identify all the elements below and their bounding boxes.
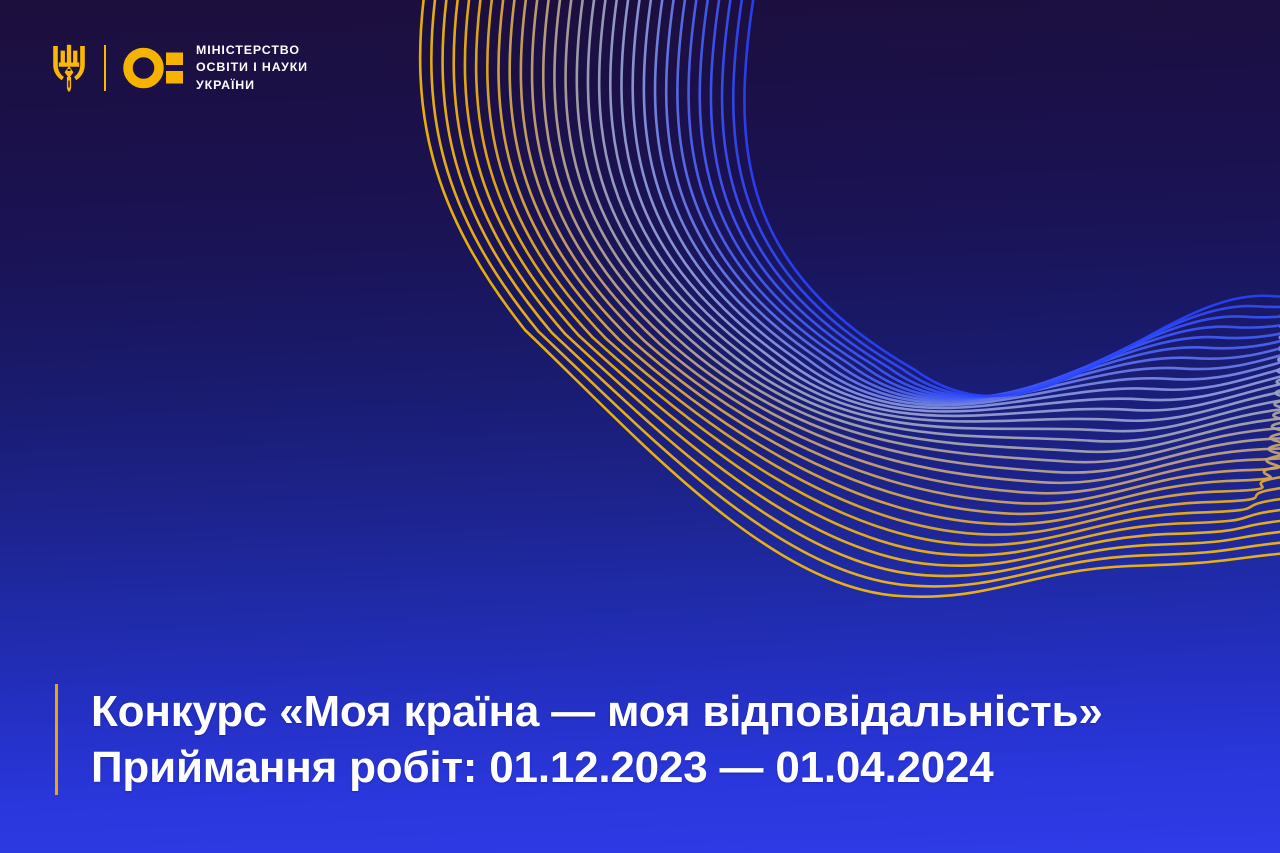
wave-line [677,0,1280,401]
ukraine-trident-icon [52,44,86,92]
wave-line [487,0,1280,535]
headline-line-contest: Конкурс «Моя країна — моя відповідальніс… [91,684,1103,740]
ministry-logo: МІНІСТЕРСТВО ОСВІТИ І НАУКИ УКРАЇНИ [52,36,308,100]
mon-o-mark-icon [123,47,183,89]
headline-line-dates: Приймання робіт: 01.12.2023 — 01.04.2024 [91,740,1103,796]
ministry-name-line-2: ОСВІТИ І НАУКИ [196,60,308,74]
wave-line [700,0,1280,398]
logo-divider [104,45,106,91]
wave-line [498,0,1280,524]
headline-text: Конкурс «Моя країна — моя відповідальніс… [91,684,1103,797]
ministry-name-line-1: МІНІСТЕРСТВО [196,43,300,57]
headline-accent-rule [55,684,58,795]
ministry-name-line-3: УКРАЇНИ [196,78,255,92]
promo-banner: МІНІСТЕРСТВО ОСВІТИ І НАУКИ УКРАЇНИ Конк… [0,0,1280,853]
headline-block: Конкурс «Моя країна — моя відповідальніс… [55,684,1103,797]
wave-line [689,0,1280,400]
ministry-name: МІНІСТЕРСТВО ОСВІТИ І НАУКИ УКРАЇНИ [196,42,308,95]
